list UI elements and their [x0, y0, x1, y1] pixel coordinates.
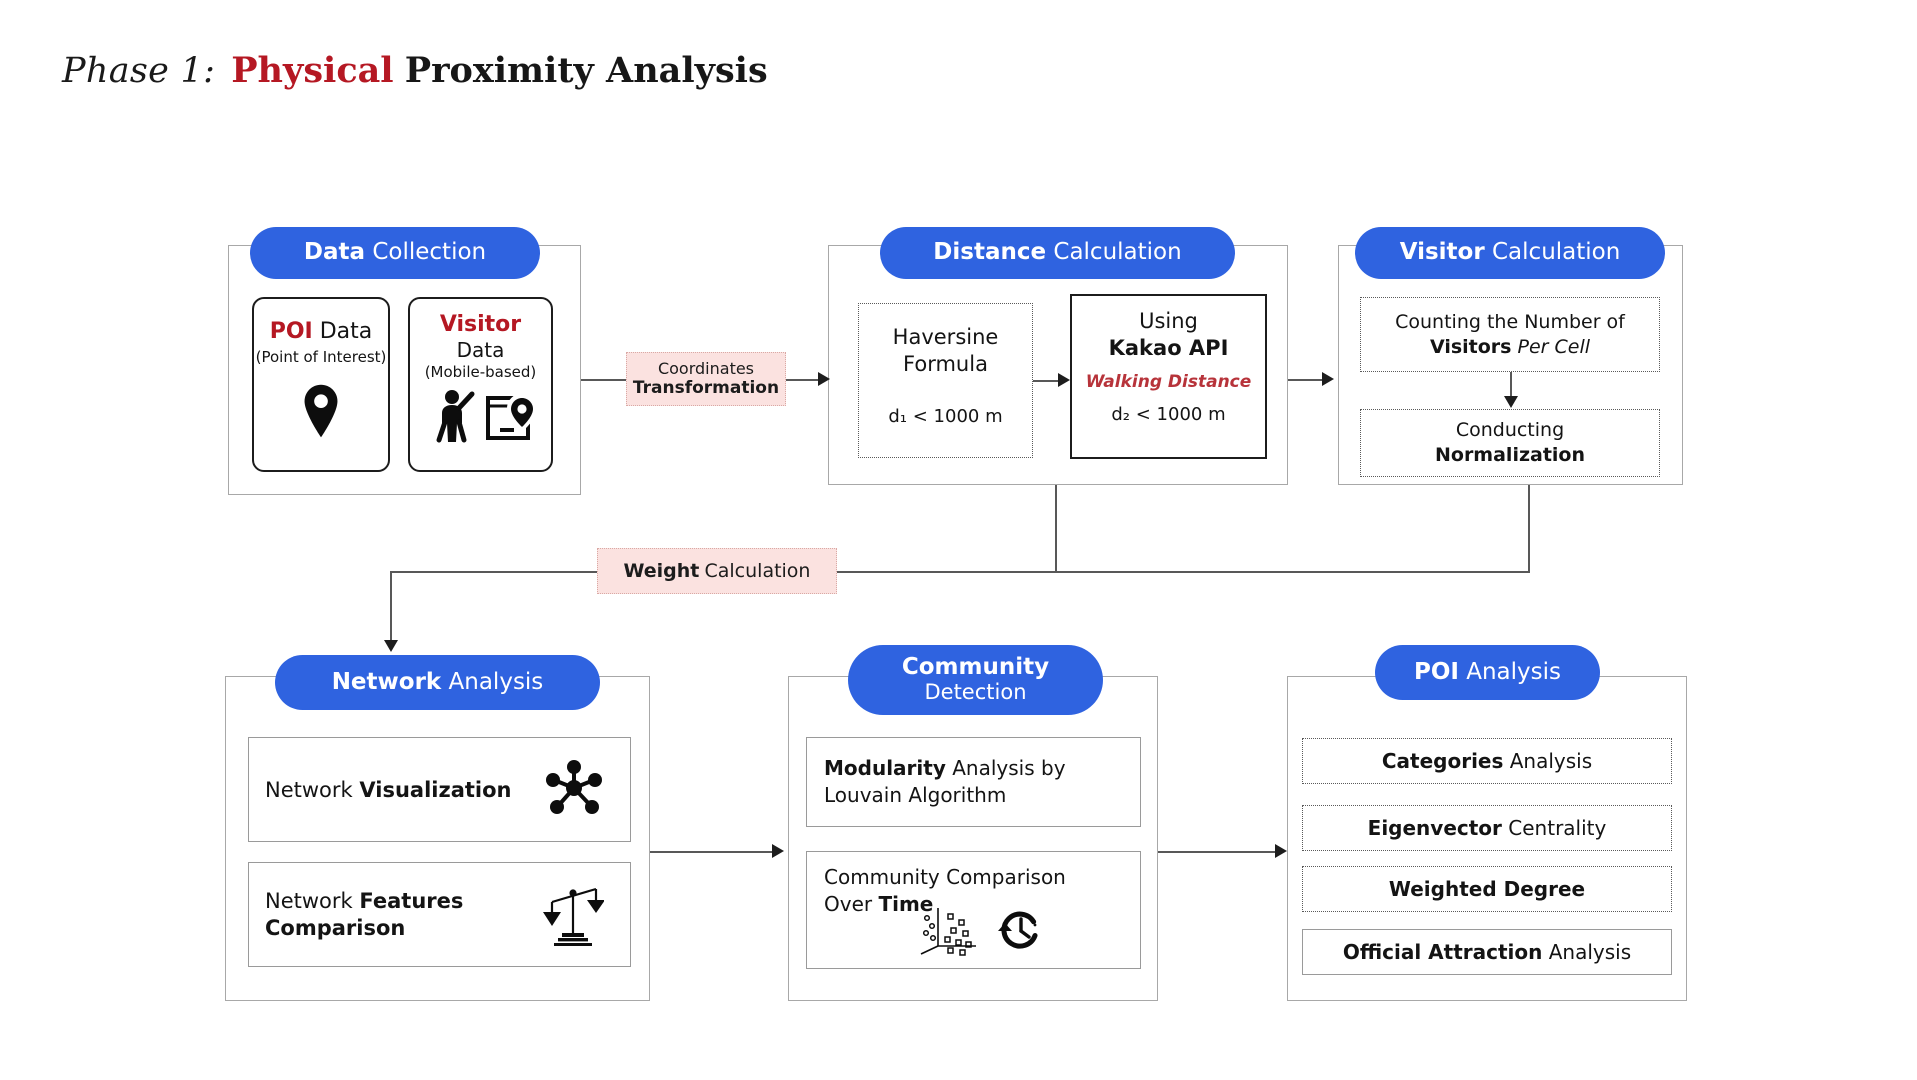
title-highlight: Physical — [231, 50, 393, 91]
arrow-bus-to-network — [384, 640, 398, 652]
card-modularity-analysis[interactable]: Modularity Analysis by Louvain Algorithm — [806, 737, 1141, 827]
card-categories-analysis[interactable]: Categories Analysis — [1302, 738, 1672, 784]
card-eigenvector-centrality[interactable]: Eigenvector Centrality — [1302, 805, 1672, 851]
badge-weight-calculation[interactable]: Weight Calculation — [597, 548, 837, 594]
counting-line2: Visitors Per Cell — [1430, 335, 1590, 360]
arrow-network-to-community — [772, 844, 784, 858]
community-comparison-normal2: Over — [824, 892, 872, 916]
bus-drop-to-network — [390, 571, 392, 646]
arrow-counting-to-normalization — [1504, 396, 1518, 408]
modularity-label: Modularity Analysis by Louvain Algorithm — [824, 755, 1066, 809]
connector-collection-to-badge — [581, 379, 626, 381]
card-kakao-api[interactable]: Using Kakao API Walking Distance d₂ < 10… — [1070, 294, 1267, 459]
bus-drop-from-visitor — [1528, 485, 1530, 573]
arrow-community-to-poi — [1275, 844, 1287, 858]
card-counting-visitors[interactable]: Counting the Number of Visitors Per Cell — [1360, 297, 1660, 372]
counting-line2-italic: Per Cell — [1518, 336, 1591, 358]
header-community-detection[interactable]: Community Detection — [848, 645, 1103, 715]
header-visitor-bold: Visitor — [1400, 240, 1485, 266]
header-distance-normal: Calculation — [1053, 240, 1181, 266]
card-visitor-data[interactable]: Visitor Data (Mobile-based) — [408, 297, 553, 472]
arrow-badge-to-distance — [818, 372, 830, 386]
poi-item-1-bold: Eigenvector — [1368, 816, 1502, 840]
poi-title-bold: POI — [270, 319, 313, 344]
poi-title-line: POI Data — [270, 319, 373, 345]
poi-item-2-bold: Weighted Degree — [1389, 877, 1585, 901]
poi-item-3-normal: Analysis — [1549, 940, 1631, 964]
haversine-line2: Formula — [903, 351, 988, 378]
counting-line2-bold: Visitors — [1430, 336, 1512, 358]
card-network-features-comparison[interactable]: Network Features Comparison — [248, 862, 631, 967]
visitor-subtitle: (Mobile-based) — [425, 362, 537, 382]
balance-scale-icon — [542, 880, 604, 950]
arrow-haversine-to-kakao — [1058, 373, 1070, 387]
network-visualization-bold: Visualization — [359, 778, 511, 802]
counting-line1: Counting the Number of — [1395, 310, 1625, 335]
header-data-collection[interactable]: Data Collection — [250, 227, 540, 279]
title-rest: Proximity Analysis — [405, 50, 768, 91]
badge-weight-bold: Weight — [624, 560, 700, 583]
header-distance-bold: Distance — [933, 240, 1046, 266]
card-community-comparison-over-time[interactable]: Community Comparison Over Time — [806, 851, 1141, 969]
poi-item-0-bold: Categories — [1382, 749, 1504, 773]
network-visualization-normal: Network — [265, 778, 353, 802]
card-normalization[interactable]: Conducting Normalization — [1360, 409, 1660, 477]
visitor-title-bold: Visitor — [440, 312, 521, 337]
scatter-axes-icon — [918, 904, 980, 960]
badge-coordinates-transformation[interactable]: Coordinates Transformation — [626, 352, 786, 406]
kakao-line1: Using — [1139, 308, 1198, 335]
poi-item-1-normal: Centrality — [1508, 816, 1606, 840]
header-data-collection-normal: Collection — [372, 240, 486, 266]
modularity-bold: Modularity — [824, 756, 946, 780]
modularity-normal: Analysis by — [952, 756, 1065, 780]
network-features-normal: Network — [265, 889, 353, 913]
badge-coordinates-line1: Coordinates — [658, 359, 754, 378]
header-poi-bold: POI — [1414, 660, 1459, 686]
header-network-analysis[interactable]: Network Analysis — [275, 655, 600, 710]
card-poi-data[interactable]: POI Data (Point of Interest) — [252, 297, 390, 472]
kakao-walking-note: Walking Distance — [1086, 372, 1252, 392]
clock-rotate-icon — [994, 905, 1046, 959]
arrow-distance-to-visitor — [1322, 372, 1334, 386]
header-network-bold: Network — [332, 670, 442, 696]
bus-horizontal — [390, 571, 1530, 573]
header-visitor-normal: Calculation — [1492, 240, 1620, 266]
community-comparison-normal1: Community Comparison — [824, 864, 1066, 891]
header-data-collection-bold: Data — [304, 240, 365, 266]
card-official-attraction-analysis[interactable]: Official Attraction Analysis — [1302, 929, 1672, 975]
haversine-line1: Haversine — [893, 324, 999, 351]
visitor-title-bold-line: Visitor — [440, 311, 521, 338]
header-poi-analysis[interactable]: POI Analysis — [1375, 645, 1600, 700]
map-pin-icon — [299, 383, 343, 443]
normalization-line1: Conducting — [1456, 418, 1564, 443]
haversine-formula: d₁ < 1000 m — [888, 406, 1002, 427]
modularity-normal2: Louvain Algorithm — [824, 782, 1066, 809]
connector-badge-to-distance — [786, 379, 818, 381]
badge-weight-normal: Calculation — [704, 560, 810, 583]
kakao-line2: Kakao API — [1109, 335, 1229, 362]
badge-coordinates-line2: Transformation — [633, 378, 779, 398]
poi-item-3-bold: Official Attraction — [1343, 940, 1543, 964]
card-weighted-degree[interactable]: Weighted Degree — [1302, 866, 1672, 912]
visitor-title-normal: Data — [457, 338, 505, 362]
network-graph-icon — [544, 759, 604, 821]
normalization-line2: Normalization — [1435, 443, 1585, 468]
poi-item-0-normal: Analysis — [1510, 749, 1592, 773]
card-haversine-formula[interactable]: Haversine Formula d₁ < 1000 m — [858, 303, 1033, 458]
header-network-normal: Analysis — [449, 670, 544, 696]
person-with-map-pin-icon — [426, 388, 536, 448]
kakao-formula: d₂ < 1000 m — [1111, 404, 1225, 425]
network-visualization-label: Network Visualization — [265, 778, 511, 802]
page-title: Phase 1:Physical Proximity Analysis — [62, 48, 768, 94]
header-community-normal: Detection — [924, 681, 1026, 705]
header-visitor-calculation[interactable]: Visitor Calculation — [1355, 227, 1665, 279]
header-community-bold: Community — [902, 655, 1049, 681]
bus-drop-from-distance — [1055, 485, 1057, 573]
network-features-bold2: Comparison — [265, 915, 463, 942]
network-features-label: Network Features Comparison — [265, 888, 463, 942]
header-distance-calculation[interactable]: Distance Calculation — [880, 227, 1235, 279]
network-features-bold: Features — [359, 889, 463, 913]
poi-title-normal: Data — [320, 319, 373, 344]
connector-network-to-community — [650, 851, 780, 853]
poi-subtitle: (Point of Interest) — [256, 347, 387, 367]
connector-community-to-poi — [1158, 851, 1283, 853]
header-poi-normal: Analysis — [1466, 660, 1561, 686]
card-network-visualization[interactable]: Network Visualization — [248, 737, 631, 842]
title-phase: Phase 1: — [62, 51, 215, 91]
